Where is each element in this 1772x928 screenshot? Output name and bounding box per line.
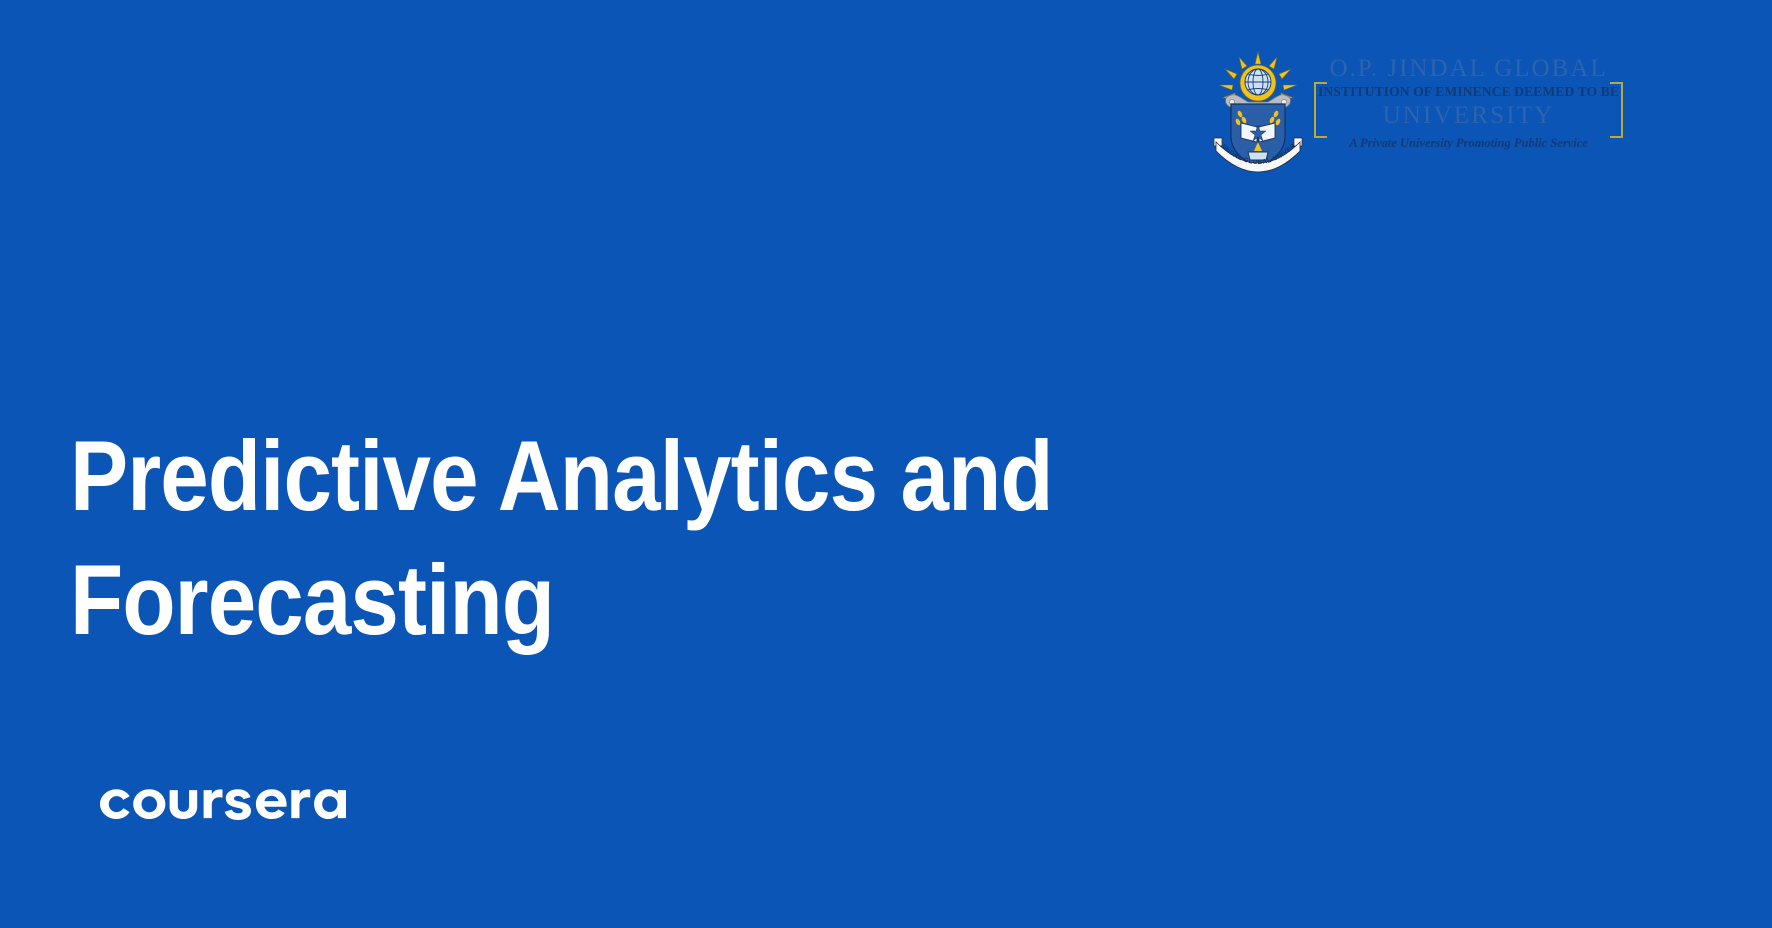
- university-logo: O.P. JINDAL GLOBAL UNIVERSITY O.P. JINDA…: [1208, 50, 1618, 176]
- university-bracket-group: INSTITUTION OF EMINENCE DEEMED TO BE UNI…: [1318, 82, 1619, 134]
- coursera-logo: [96, 778, 358, 826]
- left-bracket-icon: [1314, 82, 1327, 138]
- slide-title: Predictive Analytics and Forecasting: [70, 414, 1108, 662]
- university-accreditation-line: INSTITUTION OF EMINENCE DEEMED TO BE: [1318, 82, 1619, 99]
- slide-canvas: O.P. JINDAL GLOBAL UNIVERSITY O.P. JINDA…: [0, 0, 1772, 928]
- university-name-line1: O.P. JINDAL GLOBAL: [1318, 56, 1619, 81]
- university-crest-icon: O.P. JINDAL GLOBAL UNIVERSITY: [1208, 50, 1308, 174]
- university-tagline: A Private University Promoting Public Se…: [1318, 137, 1619, 150]
- university-name-block: O.P. JINDAL GLOBAL INSTITUTION OF EMINEN…: [1318, 50, 1619, 150]
- university-name-line3: UNIVERSITY: [1318, 99, 1619, 128]
- right-bracket-icon: [1610, 82, 1623, 138]
